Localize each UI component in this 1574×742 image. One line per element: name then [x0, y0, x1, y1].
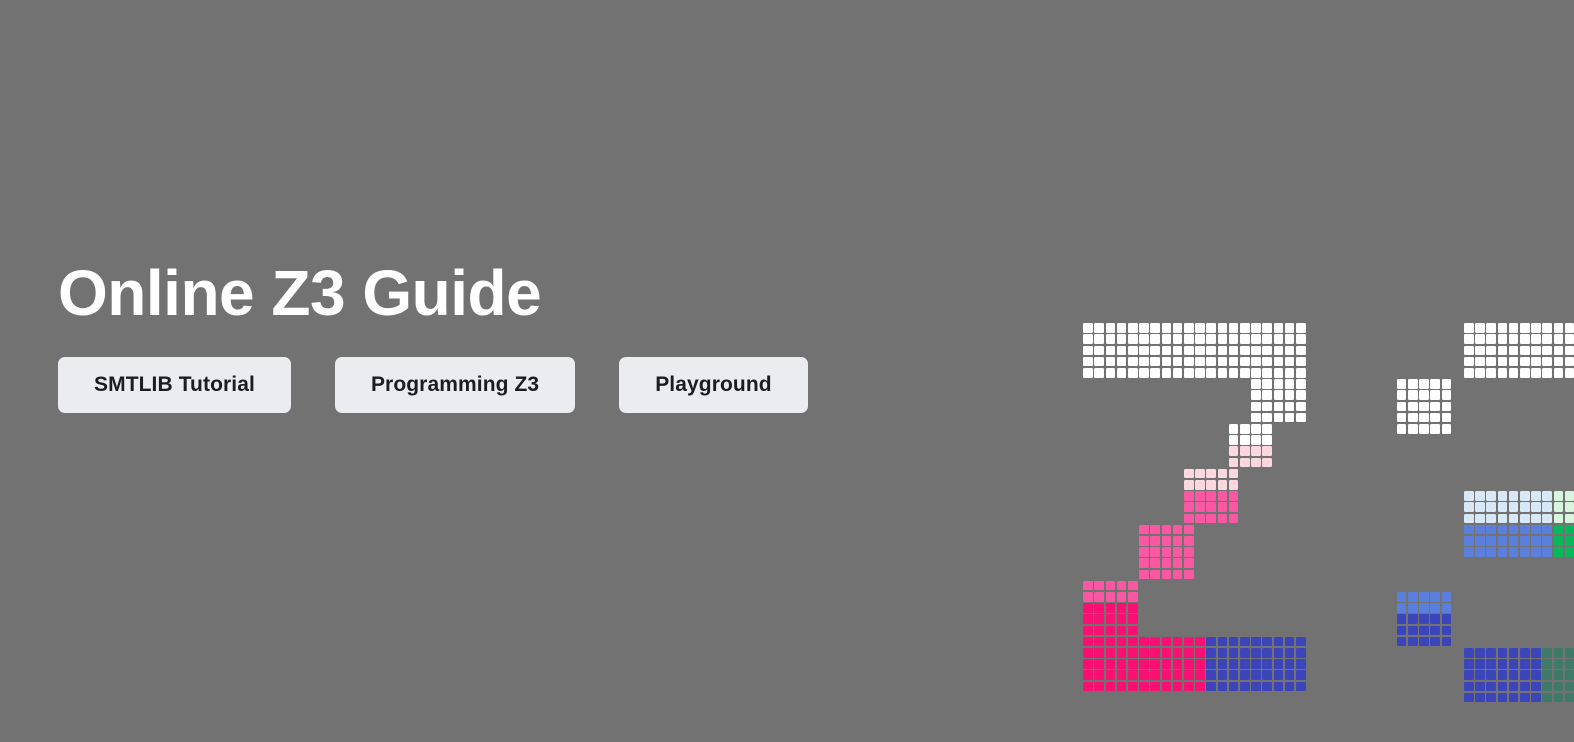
logo-pixel [1184, 637, 1194, 647]
logo-pixel [1128, 659, 1138, 669]
programming-z3-button[interactable]: Programming Z3 [335, 357, 575, 413]
logo-pixel [1520, 357, 1530, 367]
logo-pixel [1464, 514, 1474, 524]
logo-pixel [1296, 379, 1306, 389]
logo-pixel [1262, 334, 1272, 344]
logo-pixel [1162, 637, 1172, 647]
logo-pixel [1408, 614, 1418, 624]
logo-pixel [1094, 581, 1104, 591]
logo-pixel [1419, 413, 1429, 423]
logo-pixel [1094, 670, 1104, 680]
logo-pixel [1218, 469, 1228, 479]
logo-pixel [1206, 491, 1216, 501]
logo-pixel [1195, 480, 1205, 490]
logo-pixel [1240, 659, 1250, 669]
logo-pixel [1296, 670, 1306, 680]
logo-pixel [1251, 435, 1261, 445]
logo-pixel [1509, 648, 1519, 658]
logo-pixel [1296, 346, 1306, 356]
logo-pixel [1206, 346, 1216, 356]
logo-pixel [1229, 502, 1239, 512]
logo-pixel [1531, 648, 1541, 658]
logo-pixel [1094, 346, 1104, 356]
logo-pixel [1195, 469, 1205, 479]
logo-pixel [1565, 502, 1574, 512]
logo-pixel [1442, 379, 1452, 389]
logo-pixel [1520, 670, 1530, 680]
logo-pixel [1083, 648, 1093, 658]
logo-pixel [1139, 536, 1149, 546]
logo-pixel [1240, 458, 1250, 468]
logo-pixel [1218, 491, 1228, 501]
logo-pixel [1554, 682, 1564, 692]
logo-pixel [1408, 626, 1418, 636]
logo-pixel [1150, 670, 1160, 680]
logo-pixel [1218, 346, 1228, 356]
logo-pixel [1430, 626, 1440, 636]
logo-pixel [1464, 357, 1474, 367]
logo-pixel [1296, 682, 1306, 692]
logo-pixel [1106, 614, 1116, 624]
logo-pixel [1464, 368, 1474, 378]
logo-pixel [1475, 334, 1485, 344]
logo-pixel [1117, 334, 1127, 344]
logo-pixel [1520, 648, 1530, 658]
logo-pixel [1106, 648, 1116, 658]
logo-pixel [1442, 424, 1452, 434]
logo-pixel [1542, 368, 1552, 378]
logo-pixel [1229, 435, 1239, 445]
logo-pixel [1419, 626, 1429, 636]
logo-pixel [1475, 357, 1485, 367]
logo-pixel [1139, 670, 1149, 680]
logo-pixel [1464, 693, 1474, 703]
logo-pixel [1195, 682, 1205, 692]
logo-pixel [1162, 670, 1172, 680]
logo-pixel [1083, 346, 1093, 356]
logo-pixel [1274, 323, 1284, 333]
logo-pixel [1520, 334, 1530, 344]
logo-pixel [1498, 648, 1508, 658]
logo-pixel [1486, 648, 1496, 658]
logo-pixel [1173, 558, 1183, 568]
logo-pixel [1128, 637, 1138, 647]
logo-pixel [1486, 323, 1496, 333]
logo-pixel [1419, 603, 1429, 613]
logo-pixel [1554, 670, 1564, 680]
logo-pixel [1106, 357, 1116, 367]
hero-text-column: Online Z3 Guide SMTLIB Tutorial Programm… [58, 258, 958, 413]
logo-pixel [1565, 514, 1574, 524]
logo-pixel [1531, 368, 1541, 378]
logo-pixel [1542, 693, 1552, 703]
logo-pixel [1262, 424, 1272, 434]
logo-pixel [1184, 648, 1194, 658]
logo-pixel [1083, 368, 1093, 378]
logo-pixel [1542, 346, 1552, 356]
logo-pixel [1139, 637, 1149, 647]
logo-pixel [1240, 424, 1250, 434]
logo-pixel [1554, 659, 1564, 669]
logo-pixel [1408, 637, 1418, 647]
logo-pixel [1251, 390, 1261, 400]
logo-pixel [1094, 334, 1104, 344]
logo-pixel [1509, 682, 1519, 692]
logo-pixel [1486, 357, 1496, 367]
cta-button-row: SMTLIB Tutorial Programming Z3 Playgroun… [58, 357, 958, 413]
logo-pixel [1184, 491, 1194, 501]
logo-pixel [1251, 346, 1261, 356]
logo-pixel [1229, 323, 1239, 333]
logo-pixel [1150, 323, 1160, 333]
logo-pixel [1162, 659, 1172, 669]
logo-pixel [1475, 536, 1485, 546]
logo-pixel [1229, 446, 1239, 456]
logo-pixel [1184, 670, 1194, 680]
logo-pixel [1083, 614, 1093, 624]
logo-pixel [1218, 514, 1228, 524]
logo-pixel [1565, 357, 1574, 367]
logo-pixel [1218, 670, 1228, 680]
logo-pixel [1442, 637, 1452, 647]
logo-pixel [1285, 670, 1295, 680]
logo-pixel [1274, 413, 1284, 423]
logo-pixel [1419, 424, 1429, 434]
logo-pixel [1274, 368, 1284, 378]
logo-pixel [1117, 614, 1127, 624]
logo-pixel [1520, 547, 1530, 557]
logo-pixel [1173, 368, 1183, 378]
logo-pixel [1274, 390, 1284, 400]
logo-pixel [1128, 592, 1138, 602]
logo-pixel [1184, 547, 1194, 557]
logo-pixel [1106, 659, 1116, 669]
logo-pixel [1520, 536, 1530, 546]
logo-pixel [1285, 648, 1295, 658]
logo-pixel [1083, 626, 1093, 636]
logo-pixel [1150, 368, 1160, 378]
logo-pixel [1542, 334, 1552, 344]
logo-pixel [1150, 525, 1160, 535]
logo-pixel [1229, 458, 1239, 468]
logo-pixel [1531, 514, 1541, 524]
logo-pixel [1251, 334, 1261, 344]
logo-pixel [1173, 547, 1183, 557]
logo-pixel [1139, 368, 1149, 378]
logo-pixel [1229, 368, 1239, 378]
logo-pixel [1117, 357, 1127, 367]
logo-pixel [1498, 368, 1508, 378]
logo-pixel [1229, 424, 1239, 434]
logo-pixel [1531, 682, 1541, 692]
logo-pixel [1117, 346, 1127, 356]
logo-pixel [1509, 491, 1519, 501]
logo-pixel [1262, 368, 1272, 378]
logo-pixel [1296, 413, 1306, 423]
logo-pixel [1139, 659, 1149, 669]
logo-pixel [1195, 670, 1205, 680]
logo-pixel [1218, 480, 1228, 490]
logo-pixel [1464, 525, 1474, 535]
logo-pixel [1542, 648, 1552, 658]
logo-pixel [1206, 368, 1216, 378]
logo-pixel [1106, 637, 1116, 647]
logo-pixel [1554, 693, 1564, 703]
logo-pixel [1274, 659, 1284, 669]
logo-pixel [1251, 458, 1261, 468]
logo-pixel [1262, 323, 1272, 333]
logo-pixel [1285, 413, 1295, 423]
logo-pixel [1542, 514, 1552, 524]
logo-pixel [1184, 682, 1194, 692]
logo-pixel [1542, 682, 1552, 692]
logo-pixel [1475, 670, 1485, 680]
logo-pixel [1498, 514, 1508, 524]
logo-pixel [1195, 357, 1205, 367]
logo-pixel [1486, 491, 1496, 501]
logo-pixel [1531, 547, 1541, 557]
logo-pixel [1173, 682, 1183, 692]
logo-pixel [1173, 637, 1183, 647]
logo-pixel [1274, 379, 1284, 389]
logo-pixel [1251, 637, 1261, 647]
logo-pixel [1251, 413, 1261, 423]
logo-pixel [1486, 334, 1496, 344]
logo-pixel [1262, 637, 1272, 647]
logo-pixel [1150, 558, 1160, 568]
logo-pixel [1397, 424, 1407, 434]
logo-pixel [1531, 693, 1541, 703]
logo-pixel [1509, 334, 1519, 344]
logo-pixel [1475, 525, 1485, 535]
logo-pixel [1285, 637, 1295, 647]
logo-pixel [1486, 670, 1496, 680]
logo-pixel [1296, 648, 1306, 658]
logo-pixel [1139, 547, 1149, 557]
logo-pixel [1083, 592, 1093, 602]
logo-pixel [1240, 446, 1250, 456]
logo-pixel [1486, 525, 1496, 535]
logo-pixel [1240, 637, 1250, 647]
logo-pixel [1262, 435, 1272, 445]
smtlib-tutorial-button[interactable]: SMTLIB Tutorial [58, 357, 291, 413]
logo-pixel [1419, 637, 1429, 647]
logo-pixel [1128, 614, 1138, 624]
logo-pixel [1229, 659, 1239, 669]
logo-pixel [1498, 682, 1508, 692]
logo-pixel [1397, 402, 1407, 412]
logo-pixel [1442, 402, 1452, 412]
logo-pixel [1206, 323, 1216, 333]
logo-pixel [1531, 659, 1541, 669]
logo-pixel [1408, 379, 1418, 389]
logo-pixel [1408, 413, 1418, 423]
logo-pixel [1520, 514, 1530, 524]
logo-pixel [1397, 637, 1407, 647]
logo-pixel [1083, 334, 1093, 344]
logo-pixel [1184, 334, 1194, 344]
logo-pixel [1162, 547, 1172, 557]
logo-pixel [1509, 536, 1519, 546]
logo-pixel [1150, 570, 1160, 580]
logo-pixel [1285, 357, 1295, 367]
logo-pixel [1139, 525, 1149, 535]
logo-pixel [1184, 357, 1194, 367]
logo-pixel [1475, 323, 1485, 333]
logo-pixel [1475, 682, 1485, 692]
logo-pixel [1542, 659, 1552, 669]
logo-pixel [1542, 357, 1552, 367]
logo-pixel [1285, 334, 1295, 344]
logo-pixel [1430, 637, 1440, 647]
logo-pixel [1240, 648, 1250, 658]
logo-pixel [1094, 614, 1104, 624]
logo-pixel [1486, 502, 1496, 512]
logo-pixel [1184, 323, 1194, 333]
logo-pixel [1162, 570, 1172, 580]
logo-pixel [1173, 346, 1183, 356]
logo-pixel [1285, 659, 1295, 669]
logo-pixel [1486, 547, 1496, 557]
logo-pixel [1162, 357, 1172, 367]
logo-pixel [1094, 659, 1104, 669]
logo-pixel [1531, 346, 1541, 356]
logo-pixel [1430, 402, 1440, 412]
logo-pixel [1218, 659, 1228, 669]
playground-button[interactable]: Playground [619, 357, 808, 413]
logo-pixel [1464, 670, 1474, 680]
logo-pixel [1442, 626, 1452, 636]
logo-pixel [1240, 682, 1250, 692]
logo-pixel [1397, 614, 1407, 624]
logo-pixel [1117, 670, 1127, 680]
logo-pixel [1162, 525, 1172, 535]
logo-pixel [1229, 469, 1239, 479]
logo-pixel [1296, 368, 1306, 378]
logo-pixel [1542, 525, 1552, 535]
logo-pixel [1430, 390, 1440, 400]
logo-pixel [1498, 536, 1508, 546]
logo-pixel [1139, 570, 1149, 580]
logo-pixel [1498, 659, 1508, 669]
logo-pixel [1106, 603, 1116, 613]
logo-pixel [1128, 626, 1138, 636]
logo-pixel [1218, 682, 1228, 692]
logo-pixel [1162, 648, 1172, 658]
logo-pixel [1296, 637, 1306, 647]
logo-pixel [1262, 446, 1272, 456]
logo-pixel [1464, 491, 1474, 501]
logo-pixel [1274, 648, 1284, 658]
logo-pixel [1128, 603, 1138, 613]
logo-pixel [1128, 368, 1138, 378]
logo-pixel [1139, 323, 1149, 333]
logo-pixel [1106, 592, 1116, 602]
logo-pixel [1139, 357, 1149, 367]
logo-pixel [1206, 480, 1216, 490]
logo-pixel [1274, 637, 1284, 647]
logo-pixel [1475, 648, 1485, 658]
logo-pixel [1419, 614, 1429, 624]
logo-pixel [1285, 379, 1295, 389]
logo-pixel [1083, 357, 1093, 367]
logo-pixel [1206, 648, 1216, 658]
logo-pixel [1274, 334, 1284, 344]
logo-pixel [1565, 547, 1574, 557]
logo-pixel [1430, 603, 1440, 613]
logo-pixel [1218, 502, 1228, 512]
logo-pixel [1542, 323, 1552, 333]
logo-pixel [1475, 514, 1485, 524]
logo-pixel [1520, 659, 1530, 669]
logo-pixel [1475, 491, 1485, 501]
logo-pixel [1150, 659, 1160, 669]
logo-pixel [1251, 368, 1261, 378]
logo-pixel [1565, 670, 1574, 680]
logo-pixel [1173, 648, 1183, 658]
logo-pixel [1274, 357, 1284, 367]
logo-pixel [1486, 536, 1496, 546]
logo-pixel [1117, 682, 1127, 692]
logo-pixel [1262, 670, 1272, 680]
logo-pixel [1430, 614, 1440, 624]
logo-pixel [1106, 368, 1116, 378]
logo-pixel [1520, 502, 1530, 512]
logo-pixel [1195, 491, 1205, 501]
logo-pixel [1184, 469, 1194, 479]
logo-pixel [1094, 592, 1104, 602]
logo-pixel [1554, 346, 1564, 356]
logo-pixel [1475, 659, 1485, 669]
logo-pixel [1262, 357, 1272, 367]
logo-pixel [1229, 346, 1239, 356]
logo-pixel [1251, 424, 1261, 434]
logo-pixel [1162, 682, 1172, 692]
logo-pixel [1542, 547, 1552, 557]
logo-pixel [1150, 648, 1160, 658]
logo-pixel [1184, 502, 1194, 512]
logo-pixel [1285, 390, 1295, 400]
logo-pixel [1419, 390, 1429, 400]
logo-pixel [1106, 626, 1116, 636]
logo-pixel [1464, 648, 1474, 658]
logo-pixel [1565, 536, 1574, 546]
logo-pixel [1486, 368, 1496, 378]
logo-pixel [1486, 346, 1496, 356]
logo-pixel [1430, 424, 1440, 434]
logo-pixel [1531, 525, 1541, 535]
logo-pixel [1498, 670, 1508, 680]
logo-pixel [1195, 514, 1205, 524]
logo-pixel [1486, 514, 1496, 524]
logo-pixel [1206, 659, 1216, 669]
logo-pixel [1251, 648, 1261, 658]
logo-pixel [1565, 659, 1574, 669]
logo-pixel [1262, 682, 1272, 692]
logo-pixel [1139, 648, 1149, 658]
logo-pixel [1184, 659, 1194, 669]
logo-pixel [1565, 682, 1574, 692]
logo-pixel [1531, 536, 1541, 546]
logo-pixel [1229, 637, 1239, 647]
logo-pixel [1442, 413, 1452, 423]
logo-pixel [1419, 592, 1429, 602]
logo-pixel [1240, 368, 1250, 378]
page-title: Online Z3 Guide [58, 258, 958, 328]
logo-pixel [1139, 334, 1149, 344]
logo-pixel [1498, 491, 1508, 501]
logo-pixel [1094, 323, 1104, 333]
